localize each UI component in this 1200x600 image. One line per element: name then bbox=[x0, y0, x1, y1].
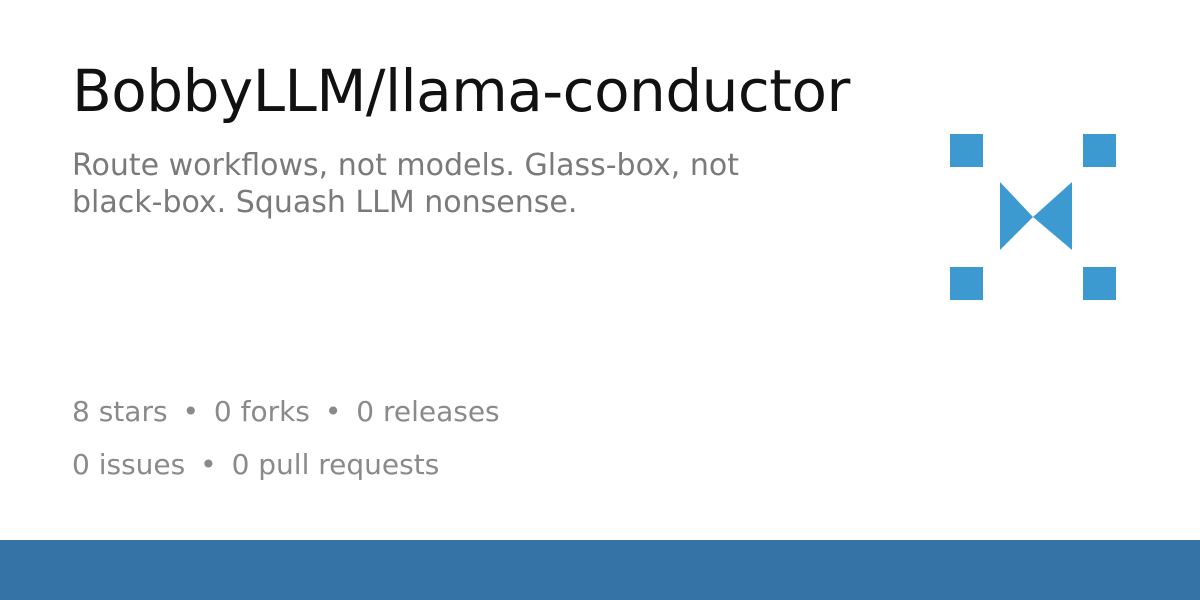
stat-separator: • bbox=[194, 448, 223, 481]
repository-header: BobbyLLM/llama-conductor Route workflows… bbox=[72, 60, 892, 222]
stat-separator: • bbox=[319, 395, 348, 428]
repository-description: Route workflows, not models. Glass-box, … bbox=[72, 147, 812, 223]
stat-releases: 0 releases bbox=[356, 395, 499, 428]
stat-forks: 0 forks bbox=[214, 395, 310, 428]
stat-stars: 8 stars bbox=[72, 395, 168, 428]
stat-issues: 0 issues bbox=[72, 448, 185, 481]
stats-line-primary: 8 stars • 0 forks • 0 releases bbox=[72, 385, 872, 438]
stat-separator: • bbox=[176, 395, 205, 428]
page-title: BobbyLLM/llama-conductor bbox=[72, 60, 892, 123]
stat-pull-requests: 0 pull requests bbox=[232, 448, 440, 481]
language-bar bbox=[0, 540, 1200, 600]
owner-avatar bbox=[950, 134, 1116, 300]
stats-line-secondary: 0 issues • 0 pull requests bbox=[72, 438, 872, 491]
owner-avatar-star-icon bbox=[950, 134, 1116, 300]
repository-social-preview-card: BobbyLLM/llama-conductor Route workflows… bbox=[0, 0, 1200, 600]
repository-stats: 8 stars • 0 forks • 0 releases 0 issues … bbox=[72, 385, 872, 491]
language-segment-python bbox=[0, 540, 1200, 600]
